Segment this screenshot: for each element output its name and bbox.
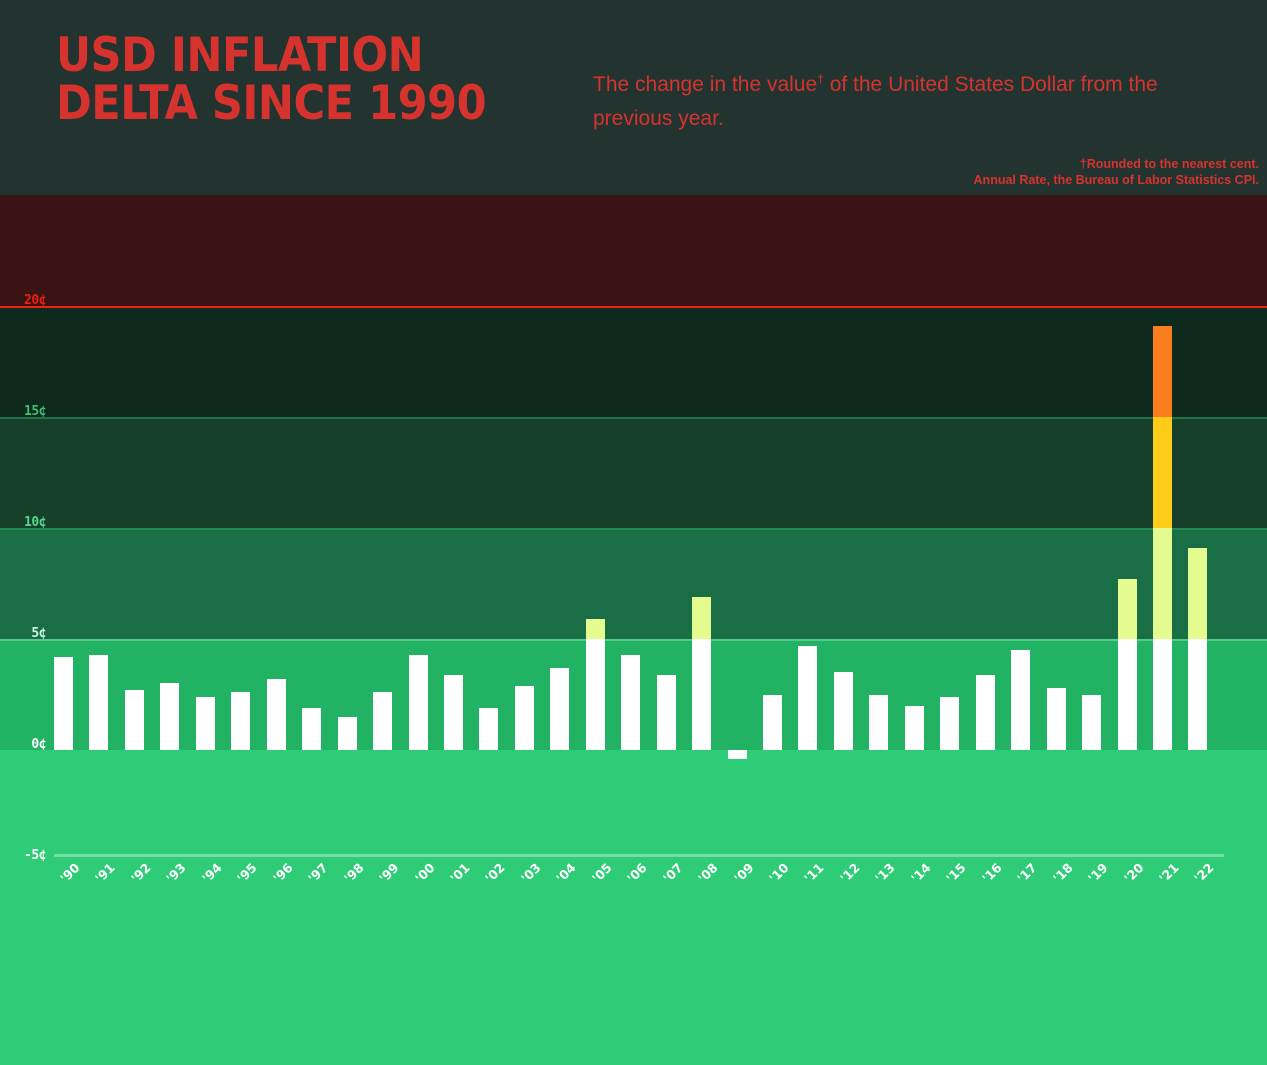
x-tick-label-y10: '10 <box>766 860 792 886</box>
x-tick-label-y09: '09 <box>731 860 757 886</box>
x-tick-label-y20: '20 <box>1121 860 1147 886</box>
bar-y06[interactable] <box>621 655 640 750</box>
bar-y95[interactable] <box>231 692 250 750</box>
bar-y18[interactable] <box>1047 688 1066 750</box>
bar-segment <box>798 646 817 750</box>
y-tick-label-0: 0¢ <box>0 737 46 752</box>
x-tick-label-y91: '91 <box>92 860 118 886</box>
bar-y12[interactable] <box>834 672 853 750</box>
x-tick-label-y15: '15 <box>943 860 969 886</box>
bar-segment <box>1118 639 1137 750</box>
bar-y93[interactable] <box>160 683 179 750</box>
x-tick-label-y02: '02 <box>482 860 508 886</box>
bar-y16[interactable] <box>976 675 995 750</box>
bar-segment <box>409 655 428 750</box>
bar-segment <box>586 619 605 639</box>
bar-y04[interactable] <box>550 668 569 750</box>
x-tick-label-y93: '93 <box>163 860 189 886</box>
footnote-line-2: Annual Rate, the Bureau of Labor Statist… <box>559 172 1259 188</box>
bar-y21[interactable] <box>1153 326 1172 750</box>
title-line-1: USD INFLATION <box>56 28 423 83</box>
subtitle-text-pre: The change in the value <box>593 73 817 96</box>
bar-y01[interactable] <box>444 675 463 750</box>
bar-segment <box>1153 528 1172 639</box>
bar-segment <box>834 672 853 750</box>
bar-segment <box>89 655 108 750</box>
x-tick-label-y00: '00 <box>412 860 438 886</box>
bar-segment <box>869 695 888 751</box>
bar-segment <box>1153 417 1172 528</box>
x-tick-label-y95: '95 <box>234 860 260 886</box>
x-tick-label-y19: '19 <box>1085 860 1111 886</box>
x-tick-label-y11: '11 <box>801 860 827 886</box>
bar-segment <box>657 675 676 750</box>
bar-segment <box>1047 688 1066 750</box>
bar-y96[interactable] <box>267 679 286 750</box>
bar-segment <box>940 697 959 750</box>
bar-segment <box>196 697 215 750</box>
bar-segment <box>231 692 250 750</box>
x-tick-label-y08: '08 <box>695 860 721 886</box>
bar-y98[interactable] <box>338 717 357 750</box>
bar-y14[interactable] <box>905 706 924 750</box>
x-tick-label-y90: '90 <box>57 860 83 886</box>
x-tick-label-y13: '13 <box>872 860 898 886</box>
x-tick-label-y97: '97 <box>305 860 331 886</box>
x-tick-label-y92: '92 <box>128 860 154 886</box>
bar-segment <box>1188 639 1207 750</box>
bar-series <box>0 195 1267 920</box>
page-title: USD INFLATION DELTA SINCE 1990 <box>56 32 586 128</box>
bar-segment <box>302 708 321 750</box>
x-tick-label-y05: '05 <box>589 860 615 886</box>
x-tick-label-y96: '96 <box>270 860 296 886</box>
title-line-2: DELTA SINCE 1990 <box>56 80 586 128</box>
x-tick-label-y01: '01 <box>447 860 473 886</box>
bar-segment <box>160 683 179 750</box>
bar-segment <box>976 675 995 750</box>
x-tick-label-y22: '22 <box>1191 860 1217 886</box>
bar-segment <box>763 695 782 751</box>
x-tick-label-y21: '21 <box>1156 860 1182 886</box>
bar-y92[interactable] <box>125 690 144 750</box>
bar-y94[interactable] <box>196 697 215 750</box>
bar-segment <box>1011 650 1030 750</box>
bar-segment <box>905 706 924 750</box>
bar-segment <box>479 708 498 750</box>
bar-segment <box>550 668 569 750</box>
bar-segment <box>373 692 392 750</box>
chart-plot-area: 25¢20¢15¢10¢5¢0¢-5¢ '90'91'92'93'94'95'9… <box>0 195 1267 920</box>
x-tick-label-y04: '04 <box>553 860 579 886</box>
x-tick-label-y99: '99 <box>376 860 402 886</box>
bar-y20[interactable] <box>1118 579 1137 750</box>
y-tick-label-10: 10¢ <box>0 515 46 530</box>
bar-y13[interactable] <box>869 695 888 751</box>
y-tick-label-20: 20¢ <box>0 293 46 308</box>
x-tick-label-y06: '06 <box>624 860 650 886</box>
bar-segment <box>515 686 534 750</box>
bar-y11[interactable] <box>798 646 817 750</box>
bar-segment <box>692 639 711 750</box>
x-tick-label-y98: '98 <box>341 860 367 886</box>
bar-segment <box>54 657 73 750</box>
bar-segment <box>125 690 144 750</box>
subtitle: The change in the value† of the United S… <box>593 62 1193 136</box>
bar-y91[interactable] <box>89 655 108 750</box>
footnote-line-1: †Rounded to the nearest cent. <box>559 156 1259 172</box>
bar-y97[interactable] <box>302 708 321 750</box>
bar-segment <box>621 655 640 750</box>
bar-segment <box>692 597 711 639</box>
bar-y99[interactable] <box>373 692 392 750</box>
bar-segment <box>1118 579 1137 639</box>
dagger-marker: † <box>817 72 824 86</box>
bar-y00[interactable] <box>409 655 428 750</box>
bar-y90[interactable] <box>54 657 73 750</box>
bar-y05[interactable] <box>586 619 605 750</box>
x-tick-label-y14: '14 <box>908 860 934 886</box>
bar-segment-negative <box>728 750 747 759</box>
x-tick-label-y18: '18 <box>1050 860 1076 886</box>
x-tick-label-y94: '94 <box>199 860 225 886</box>
bar-segment <box>338 717 357 750</box>
x-tick-label-y17: '17 <box>1014 860 1040 886</box>
bar-y17[interactable] <box>1011 650 1030 750</box>
x-axis-labels: '90'91'92'93'94'95'96'97'98'99'00'01'02'… <box>0 855 1267 920</box>
bar-segment <box>444 675 463 750</box>
x-tick-label-y16: '16 <box>979 860 1005 886</box>
bar-segment <box>1082 695 1101 751</box>
footnote: †Rounded to the nearest cent. Annual Rat… <box>559 156 1259 188</box>
bar-y07[interactable] <box>657 675 676 750</box>
bar-y09[interactable] <box>728 750 747 759</box>
x-tick-label-y07: '07 <box>660 860 686 886</box>
bar-y19[interactable] <box>1082 695 1101 751</box>
header-banner: USD INFLATION DELTA SINCE 1990 The chang… <box>0 0 1267 195</box>
bar-y22[interactable] <box>1188 548 1207 750</box>
bar-y02[interactable] <box>479 708 498 750</box>
x-tick-label-y03: '03 <box>518 860 544 886</box>
bar-segment <box>1153 326 1172 417</box>
bar-segment <box>1188 548 1207 639</box>
bar-y08[interactable] <box>692 597 711 750</box>
bar-segment <box>586 639 605 750</box>
bar-y15[interactable] <box>940 697 959 750</box>
x-tick-label-y12: '12 <box>837 860 863 886</box>
bar-segment <box>1153 639 1172 750</box>
bar-segment <box>267 679 286 750</box>
bar-y03[interactable] <box>515 686 534 750</box>
y-tick-label-5: 5¢ <box>0 626 46 641</box>
bar-y10[interactable] <box>763 695 782 751</box>
y-tick-label-15: 15¢ <box>0 404 46 419</box>
